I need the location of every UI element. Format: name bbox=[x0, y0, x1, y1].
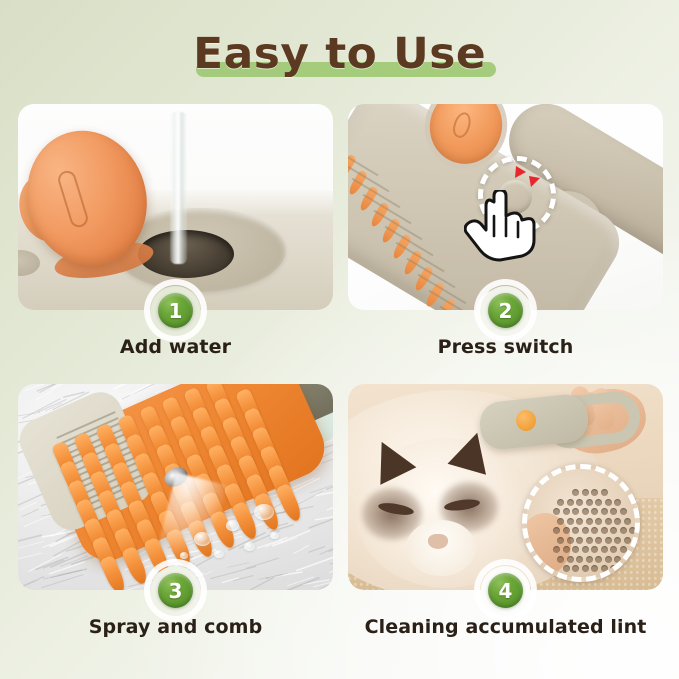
bristle-hole bbox=[610, 565, 617, 572]
bristle-hole bbox=[557, 518, 564, 525]
bristle-hole bbox=[601, 508, 608, 515]
bristle-hole bbox=[610, 546, 617, 553]
bristle-hole bbox=[624, 537, 631, 544]
bristle-hole bbox=[563, 527, 570, 534]
bristle-hole bbox=[605, 556, 612, 563]
bristle-hole bbox=[591, 546, 598, 553]
bristle-hole bbox=[595, 537, 602, 544]
bristle-hole bbox=[591, 527, 598, 534]
step-2-image bbox=[348, 104, 663, 310]
step-caption-3: Spray and comb bbox=[18, 616, 333, 638]
bristle-hole bbox=[576, 499, 583, 506]
bristle-hole bbox=[567, 499, 574, 506]
bristle-hole bbox=[586, 556, 593, 563]
step-1-image bbox=[18, 104, 333, 310]
water-stream bbox=[170, 112, 187, 264]
bristle-hole bbox=[586, 499, 593, 506]
bristle-hole bbox=[624, 518, 631, 525]
bristle-hole bbox=[614, 499, 621, 506]
page-title: Easy to Use bbox=[193, 22, 486, 86]
bristle-hole bbox=[601, 527, 608, 534]
bristle-hole bbox=[620, 508, 627, 515]
hand-pointer-cursor bbox=[464, 190, 538, 266]
infographic-page: Easy to Use 1 Add water bbox=[0, 0, 679, 679]
bristle-hole bbox=[563, 546, 570, 553]
bristle-hole bbox=[567, 537, 574, 544]
water-droplet bbox=[194, 532, 211, 546]
bristle-hole bbox=[610, 508, 617, 515]
bristle-hole bbox=[563, 565, 570, 572]
bristle-hole bbox=[576, 518, 583, 525]
bristle-hole bbox=[553, 546, 560, 553]
bristle-hole bbox=[624, 556, 631, 563]
bristle-hole bbox=[620, 546, 627, 553]
bristle-hole bbox=[620, 527, 627, 534]
bristle-hole bbox=[557, 556, 564, 563]
step-3-image bbox=[18, 384, 333, 590]
bristle-hole bbox=[595, 499, 602, 506]
water-droplet bbox=[180, 552, 188, 559]
step-badge-1: 1 bbox=[158, 293, 193, 328]
bristle-hole bbox=[582, 565, 589, 572]
bristle-hole bbox=[605, 499, 612, 506]
bristle-hole bbox=[591, 508, 598, 515]
bristle-hole bbox=[614, 537, 621, 544]
bristle-hole bbox=[601, 565, 608, 572]
bristle-hole bbox=[601, 489, 608, 496]
step-badge-4: 4 bbox=[488, 573, 523, 608]
step-card-3: 3 Spray and comb bbox=[18, 384, 333, 590]
bristle-hole bbox=[582, 489, 589, 496]
bristle-hole bbox=[582, 527, 589, 534]
step-card-1: 1 Add water bbox=[18, 104, 333, 310]
bristle-hole bbox=[553, 508, 560, 515]
step-number-2: 2 bbox=[499, 301, 513, 321]
step-card-2: 2 Press switch bbox=[348, 104, 663, 310]
bristle-hole bbox=[605, 537, 612, 544]
water-droplet bbox=[226, 520, 239, 531]
step-caption-1: Add water bbox=[18, 336, 333, 358]
step-caption-4: Cleaning accumulated lint bbox=[348, 616, 663, 638]
bristle-hole bbox=[591, 565, 598, 572]
bristle-hole bbox=[576, 556, 583, 563]
bristle-hole bbox=[557, 537, 564, 544]
bristle-hole bbox=[586, 537, 593, 544]
page-title-area: Easy to Use bbox=[0, 22, 679, 90]
bristle-hole bbox=[601, 546, 608, 553]
step-4-image bbox=[348, 384, 663, 590]
bristle-hole bbox=[572, 527, 579, 534]
step-number-4: 4 bbox=[499, 581, 513, 601]
bristle-hole bbox=[572, 489, 579, 496]
bristle-hole bbox=[567, 518, 574, 525]
lint-closeup-inset bbox=[522, 464, 640, 582]
step-badge-3: 3 bbox=[158, 573, 193, 608]
bristle-hole bbox=[572, 546, 579, 553]
bristle-hole bbox=[572, 565, 579, 572]
bristle-hole bbox=[605, 518, 612, 525]
bristle-hole bbox=[572, 508, 579, 515]
water-droplet bbox=[244, 542, 255, 551]
bristle-hole bbox=[586, 518, 593, 525]
bristle-hole bbox=[557, 499, 564, 506]
step-number-3: 3 bbox=[169, 581, 183, 601]
bristle-hole bbox=[595, 556, 602, 563]
bristle-hole bbox=[582, 546, 589, 553]
bristle-hole bbox=[610, 527, 617, 534]
silicone-bristle bbox=[275, 483, 304, 524]
bristle-hole bbox=[595, 518, 602, 525]
step-card-4: 4 Cleaning accumulated lint bbox=[348, 384, 663, 590]
bristle-hole bbox=[614, 518, 621, 525]
step-caption-2: Press switch bbox=[348, 336, 663, 358]
bristle-hole bbox=[576, 537, 583, 544]
step-number-1: 1 bbox=[169, 301, 183, 321]
bristle-hole bbox=[567, 556, 574, 563]
step-badge-2: 2 bbox=[488, 293, 523, 328]
bristle-hole bbox=[614, 556, 621, 563]
bristle-hole bbox=[553, 527, 560, 534]
bristle-hole bbox=[591, 489, 598, 496]
bristle-hole bbox=[629, 546, 636, 553]
cat-nose bbox=[428, 534, 448, 549]
bristle-hole bbox=[629, 527, 636, 534]
bristle-hole bbox=[582, 508, 589, 515]
bristle-hole bbox=[563, 508, 570, 515]
